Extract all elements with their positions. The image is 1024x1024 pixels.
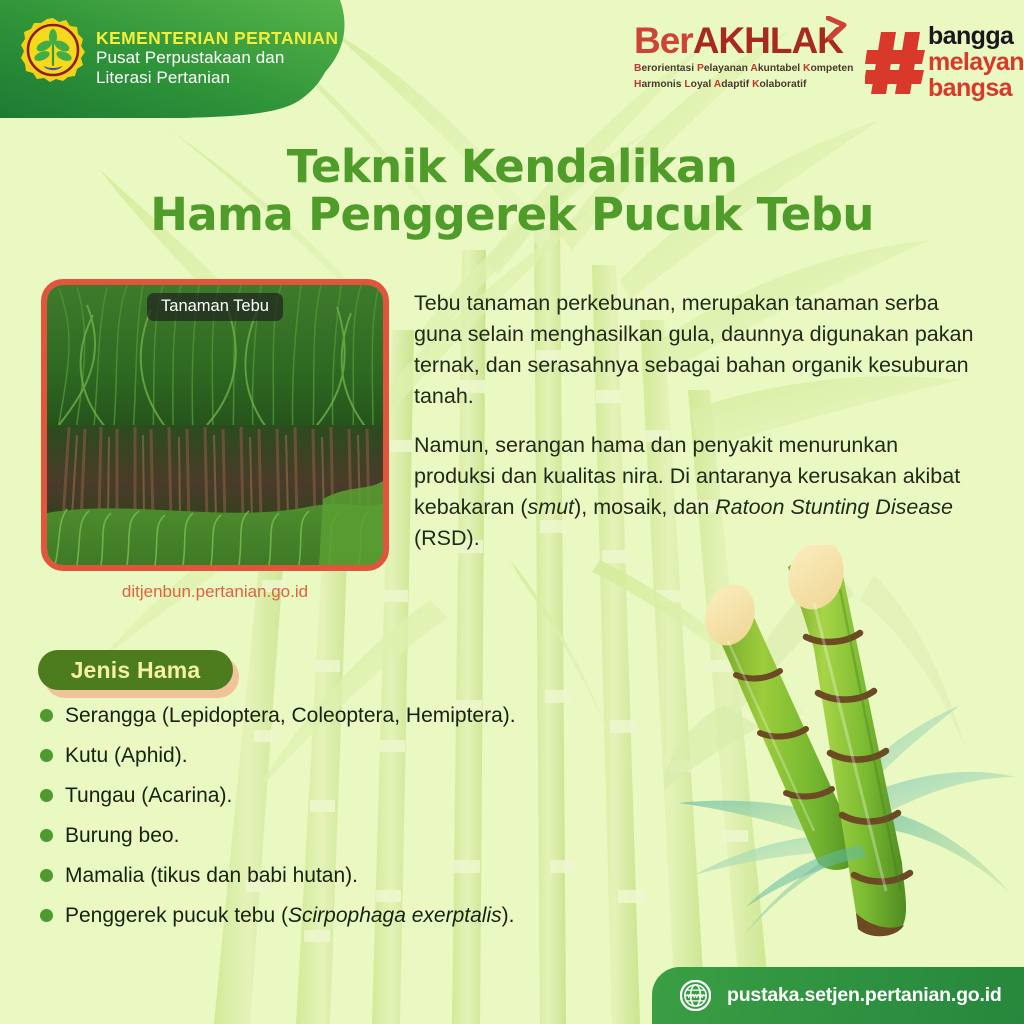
ministry-logo <box>20 17 86 83</box>
hama-list-item: Penggerek pucuk tebu (Scirpophaga exerpt… <box>40 900 660 932</box>
title-line1: Teknik Kendalikan <box>0 143 1024 191</box>
berakhlak-word-rest: erorientasi <box>641 63 697 74</box>
hashtag-icon <box>865 30 927 96</box>
bullet-icon <box>40 749 53 762</box>
photo-label-badge: Tanaman Tebu <box>147 293 283 321</box>
hama-text-after: ). <box>502 904 515 927</box>
hama-list-item-label: Mamalia (tikus dan babi hutan). <box>65 860 358 892</box>
berakhlak-wordmark: BerAKHLAK <box>634 22 853 59</box>
infographic-poster: KEMENTERIAN PERTANIAN Pusat Perpustakaan… <box>0 0 1024 1024</box>
bangga-line3: bangsa <box>928 76 1024 102</box>
berakhlak-word-rest: elayanan <box>704 63 751 74</box>
hama-list-item-label: Penggerek pucuk tebu (Scirpophaga exerpt… <box>65 900 514 932</box>
bullet-icon <box>40 829 53 842</box>
check-mark-icon <box>826 16 848 42</box>
sugarcane-stalks-illustration <box>664 545 1024 945</box>
body-p2-italic-rsd: Ratoon Stunting Disease <box>715 495 953 519</box>
berakhlak-word-initial: A <box>750 63 757 74</box>
hama-list: Serangga (Lepidoptera, Coleoptera, Hemip… <box>40 700 660 939</box>
header: KEMENTERIAN PERTANIAN Pusat Perpustakaan… <box>0 0 1024 118</box>
berakhlak-word-rest: daptif <box>721 79 752 90</box>
hama-text-before: Penggerek pucuk tebu ( <box>65 904 288 927</box>
berakhlak-subtitle-line2: Harmonis Loyal Adaptif Kolaboratif <box>634 78 853 91</box>
berakhlak-part1: Ber <box>634 20 693 61</box>
globe-www-icon: WWW <box>680 980 711 1011</box>
photo-source-caption: ditjenbun.pertanian.go.id <box>41 582 389 602</box>
bangga-line2: melayani <box>928 50 1024 76</box>
berakhlak-word-rest: kuntabel <box>758 63 803 74</box>
bullet-icon <box>40 869 53 882</box>
ministry-unit-line2: Literasi Pertanian <box>96 68 338 88</box>
body-p2-part-b: ), mosaik, dan <box>574 495 715 519</box>
berakhlak-subtitle-line1: Berorientasi Pelayanan Akuntabel Kompete… <box>634 62 853 75</box>
hama-list-item-label: Tungau (Acarina). <box>65 780 232 812</box>
hama-list-item-label: Kutu (Aphid). <box>65 740 188 772</box>
body-paragraph-2: Namun, serangan hama dan penyakit menuru… <box>414 430 974 554</box>
bangga-line1: bangga <box>928 24 1024 50</box>
berakhlak-word-rest: olaboratif <box>760 79 807 90</box>
berakhlak-part2: AKHLAK <box>693 20 843 61</box>
berakhlak-word-initial: K <box>752 79 759 90</box>
hama-species-italic: Scirpophaga exerptalis <box>288 904 502 927</box>
bullet-icon <box>40 909 53 922</box>
sugarcane-photo-card: Tanaman Tebu <box>41 279 389 571</box>
ministry-unit-line1: Pusat Perpustakaan dan <box>96 48 338 68</box>
ministry-of-agriculture-logo-icon <box>20 17 86 83</box>
hama-list-item: Burung beo. <box>40 820 660 852</box>
section-badge-label: Jenis Hama <box>71 657 201 684</box>
body-p2-italic-smut: smut <box>528 495 575 519</box>
hama-list-item: Mamalia (tikus dan babi hutan). <box>40 860 660 892</box>
hama-list-item-label: Burung beo. <box>65 820 179 852</box>
ministry-text-block: KEMENTERIAN PERTANIAN Pusat Perpustakaan… <box>96 28 338 88</box>
bullet-icon <box>40 709 53 722</box>
body-text-block: Tebu tanaman perkebunan, merupakan tanam… <box>414 288 974 554</box>
ministry-name: KEMENTERIAN PERTANIAN <box>96 28 338 48</box>
body-p2-part-c: (RSD). <box>414 526 480 550</box>
hama-list-item: Kutu (Aphid). <box>40 740 660 772</box>
hama-list-item-label: Serangga (Lepidoptera, Coleoptera, Hemip… <box>65 700 516 732</box>
section-badge-jenis-hama: Jenis Hama <box>38 650 233 690</box>
footer-bar[interactable]: WWW pustaka.setjen.pertanian.go.id <box>652 967 1024 1024</box>
svg-text:WWW: WWW <box>687 994 704 1000</box>
berakhlak-logo: BerAKHLAK Berorientasi Pelayanan Akuntab… <box>634 22 853 91</box>
page-title: Teknik Kendalikan Hama Penggerek Pucuk T… <box>0 143 1024 239</box>
footer-url: pustaka.setjen.pertanian.go.id <box>727 984 1002 1007</box>
title-line2: Hama Penggerek Pucuk Tebu <box>0 191 1024 239</box>
berakhlak-word-rest: ompeten <box>810 63 853 74</box>
hama-list-item: Serangga (Lepidoptera, Coleoptera, Hemip… <box>40 700 660 732</box>
hama-list-item: Tungau (Acarina). <box>40 780 660 812</box>
berakhlak-word-rest: oyal <box>691 79 714 90</box>
sugarcane-field-photo <box>47 285 383 565</box>
bullet-icon <box>40 789 53 802</box>
body-paragraph-1: Tebu tanaman perkebunan, merupakan tanam… <box>414 288 974 412</box>
berakhlak-word-initial: P <box>697 63 704 74</box>
bangga-text-lines: bangga melayani bangsa <box>928 24 1024 101</box>
berakhlak-word-rest: armonis <box>641 79 684 90</box>
